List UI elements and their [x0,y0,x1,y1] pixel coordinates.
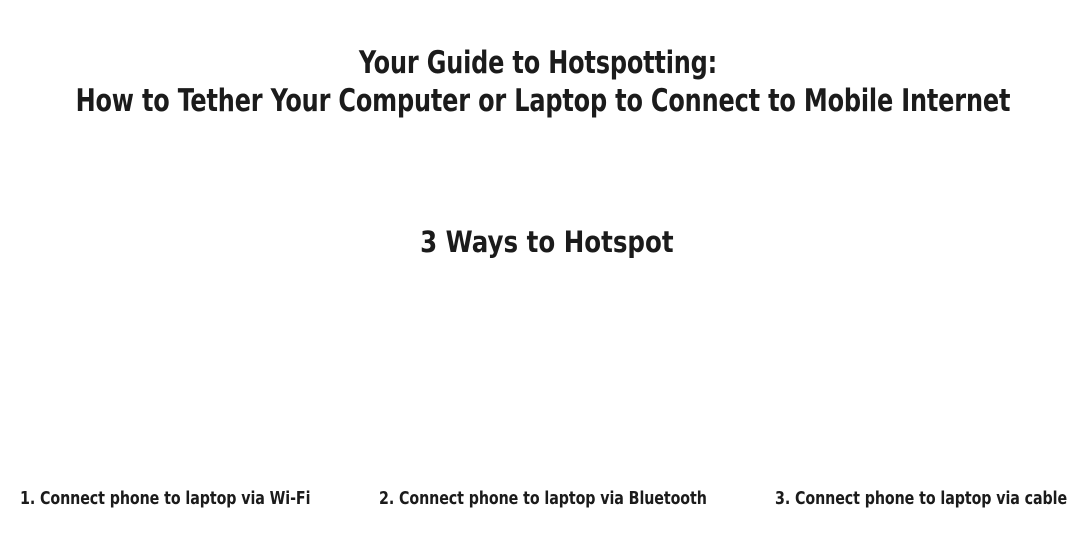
page-title-line-1: Your Guide to Hotspotting: [72,44,1004,82]
page-title: Your Guide to Hotspotting: How to Tether… [0,44,1080,120]
caption-wifi: 1. Connect phone to laptop via Wi-Fi [20,487,310,511]
page-title-line-2: How to Tether Your Computer or Laptop to… [76,82,1005,120]
illustration-row [0,285,1080,475]
caption-cable: 3. Connect phone to laptop via cable [775,487,1067,511]
cable-illustration [740,285,1080,475]
bluetooth-illustration [370,285,710,475]
infographic-page: Your Guide to Hotspotting: How to Tether… [0,0,1080,552]
section-subtitle: 3 Ways to Hotspot [420,224,673,260]
subtitle-block: 3 Ways to Hotspot [0,224,1080,260]
wifi-illustration [0,285,340,475]
caption-row: 1. Connect phone to laptop via Wi-Fi 2. … [0,487,1080,513]
caption-bluetooth: 2. Connect phone to laptop via Bluetooth [379,487,707,511]
